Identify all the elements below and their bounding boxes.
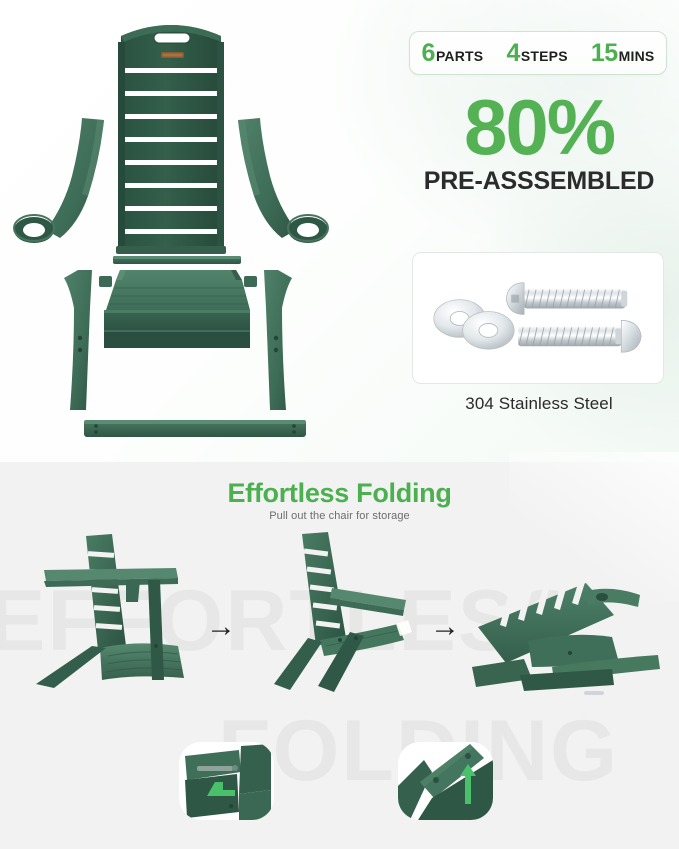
hardware-washer-front	[463, 312, 515, 350]
detail-inset-armrest-lift	[398, 742, 493, 820]
stat-steps-value: 4	[506, 41, 519, 66]
folding-subtitle: Pull out the chair for storage	[0, 510, 679, 522]
pre-assembled-block: 80% PRE-ASSSEMBLED	[409, 90, 669, 196]
stat-mins: 15 MINS	[591, 41, 655, 66]
detail-inset-latch-release	[179, 742, 274, 820]
hardware-caption: 304 Stainless Steel	[409, 394, 669, 414]
stat-parts-label: PARTS	[436, 49, 483, 63]
stat-parts-value: 6	[422, 41, 435, 66]
part-right-armrest	[238, 118, 328, 243]
exploded-parts-diagram	[8, 8, 408, 458]
stat-steps: 4 STEPS	[506, 41, 567, 66]
hardware-bolt-lower	[518, 320, 641, 352]
part-bottom-rail	[84, 420, 306, 437]
fold-stage-chair-open	[8, 528, 218, 698]
hardware-illustration	[413, 253, 663, 384]
stats-pill: 6 PARTS 4 STEPS 15 MINS	[409, 31, 667, 75]
fold-stage-chair-half-folded	[246, 528, 446, 698]
armrest-lift-illustration	[398, 742, 493, 820]
stage-arrow-2: →	[430, 612, 460, 642]
stat-parts: 6 PARTS	[422, 41, 484, 66]
infographic-canvas: 6 PARTS 4 STEPS 15 MINS 80% PRE-ASSSEMBL…	[0, 0, 679, 849]
pre-assembled-percent: 80%	[409, 90, 669, 165]
hardware-card	[412, 252, 664, 384]
part-seat-assembly	[104, 270, 250, 348]
folding-title: Effortless Folding	[0, 478, 679, 509]
stage-arrow-1: →	[206, 612, 236, 642]
stat-mins-value: 15	[591, 41, 618, 66]
part-left-armrest	[14, 118, 104, 243]
part-backrest-panel	[116, 25, 226, 254]
part-right-leg	[264, 270, 292, 410]
fold-stage-chair-folded-flat	[462, 575, 679, 720]
part-left-leg	[64, 270, 92, 410]
hardware-bolt-upper	[506, 283, 627, 315]
latch-release-illustration	[179, 742, 274, 820]
pre-assembled-caption: PRE-ASSSEMBLED	[409, 167, 669, 196]
top-section: 6 PARTS 4 STEPS 15 MINS 80% PRE-ASSSEMBL…	[0, 0, 679, 462]
stat-steps-label: STEPS	[521, 49, 568, 63]
part-cross-bar	[113, 256, 241, 264]
stat-mins-label: MINS	[619, 49, 655, 63]
